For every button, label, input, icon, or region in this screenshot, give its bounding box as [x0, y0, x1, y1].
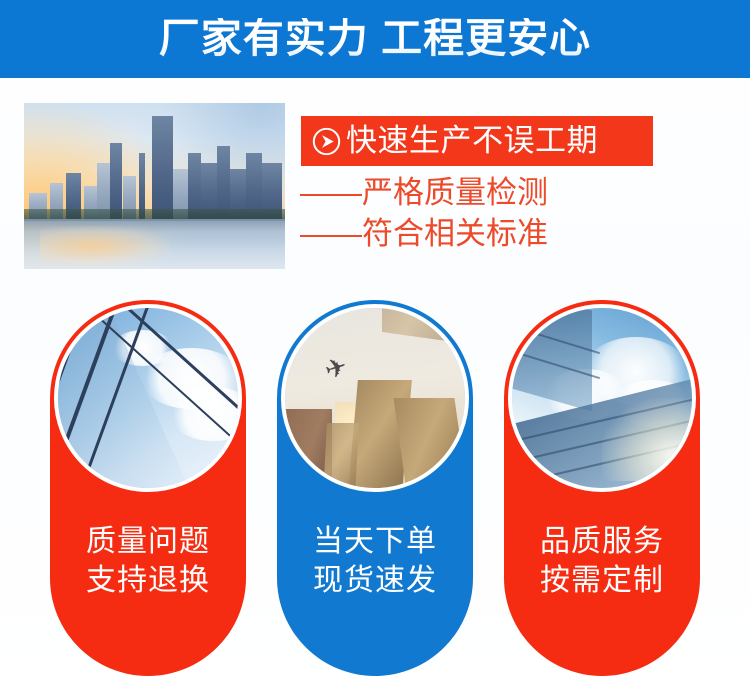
- page-title: 厂家有实力 工程更安心: [159, 18, 591, 61]
- water-reflection: [40, 226, 171, 266]
- airplane-icon: ✈: [321, 352, 350, 383]
- card-caption-line1: 当天下单: [313, 522, 437, 561]
- facade-upper-left: [508, 304, 591, 411]
- building: [217, 146, 230, 219]
- card-caption-line2: 现货速发: [313, 561, 437, 600]
- card-caption: 质量问题 支持退换: [86, 522, 210, 600]
- card-photo-plane-over-towers: ✈: [281, 304, 469, 492]
- feature-card-row: 质量问题 支持退换 ✈ 当天下单 现货速发: [0, 300, 750, 678]
- building-tallest: [152, 116, 173, 219]
- upward-sky-art: [512, 308, 692, 488]
- highlight-banner-text: 快速生产不误工期: [346, 125, 598, 158]
- card-caption-line1: 质量问题: [86, 522, 210, 561]
- feature-card-quality-return[interactable]: 质量问题 支持退换: [50, 300, 246, 676]
- card-caption-line1: 品质服务: [540, 522, 664, 561]
- tower-top: [382, 304, 454, 342]
- card-caption: 品质服务 按需定制: [540, 522, 664, 600]
- hero-section: 快速生产不误工期 ——严格质量检测 ——符合相关标准: [0, 78, 750, 290]
- card-caption: 当天下单 现货速发: [313, 522, 437, 600]
- city-skyline-photo: [24, 103, 285, 269]
- glass-facade-art: [58, 308, 238, 488]
- tower-right: [394, 398, 468, 492]
- tower-mid: [323, 423, 359, 492]
- promo-banner-page: 厂家有实力 工程更安心: [0, 0, 750, 696]
- feature-card-custom-service[interactable]: 品质服务 按需定制: [504, 300, 700, 676]
- hero-bullet: ——符合相关标准: [300, 213, 640, 254]
- card-photo-glass-curtain-wall: [54, 304, 242, 492]
- card-caption-line2: 按需定制: [540, 561, 664, 600]
- building-tower: [110, 143, 122, 219]
- play-circle-icon: [312, 127, 341, 156]
- header-bar: 厂家有实力 工程更安心: [0, 0, 750, 78]
- skyward-towers-art: ✈: [285, 308, 465, 488]
- hero-bullet: ——严格质量检测: [300, 172, 640, 213]
- sun-flare: [602, 398, 696, 481]
- feature-card-same-day-shipping[interactable]: ✈ 当天下单 现货速发: [277, 300, 473, 676]
- hero-bullet-list: ——严格质量检测 ——符合相关标准: [300, 172, 640, 254]
- card-photo-upward-glass-tower: [508, 304, 696, 492]
- highlight-banner: 快速生产不误工期: [301, 116, 653, 166]
- card-caption-line2: 支持退换: [86, 561, 210, 600]
